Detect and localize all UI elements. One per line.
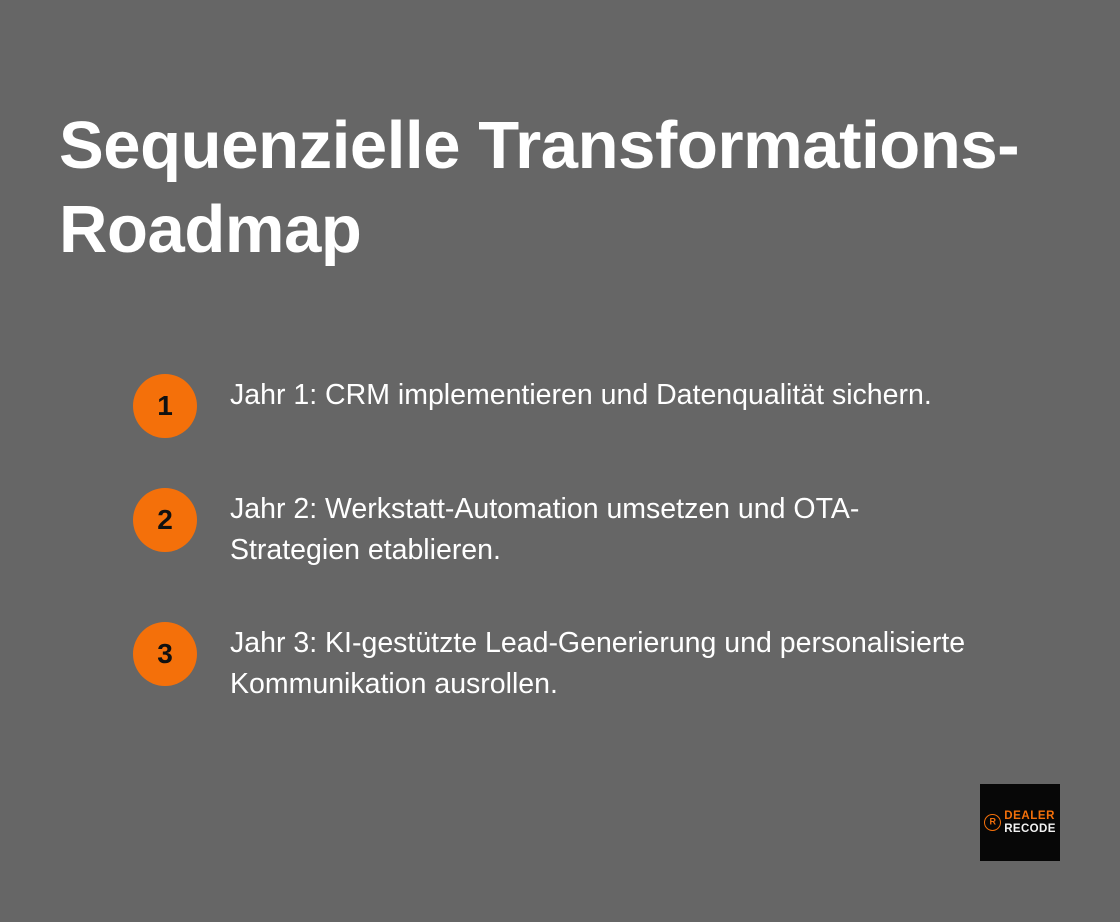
- brand-logo: R DEALER RECODE: [980, 784, 1060, 861]
- logo-wordmark: DEALER RECODE: [1004, 810, 1056, 834]
- step-number-badge-3: 3: [133, 622, 197, 686]
- roadmap-step-list: 1 Jahr 1: CRM implementieren und Datenqu…: [133, 374, 1033, 705]
- list-item: 2 Jahr 2: Werkstatt-Automation umsetzen …: [133, 488, 1033, 572]
- list-item: 3 Jahr 3: KI-gestützte Lead-Generierung …: [133, 622, 1033, 706]
- step-text-1: Jahr 1: CRM implementieren und Datenqual…: [230, 374, 970, 416]
- step-number-badge-1: 1: [133, 374, 197, 438]
- step-number-badge-2: 2: [133, 488, 197, 552]
- circled-r-icon: R: [984, 814, 1001, 831]
- logo-lockup: R DEALER RECODE: [984, 810, 1056, 834]
- logo-word-dealer: DEALER: [1004, 810, 1056, 822]
- step-text-3: Jahr 3: KI-gestützte Lead-Generierung un…: [230, 622, 970, 706]
- logo-mark-letter: R: [989, 818, 996, 827]
- list-item: 1 Jahr 1: CRM implementieren und Datenqu…: [133, 374, 1033, 438]
- step-text-2: Jahr 2: Werkstatt-Automation umsetzen un…: [230, 488, 970, 572]
- page-title: Sequenzielle Transformations-Roadmap: [59, 104, 1059, 273]
- slide-canvas: Sequenzielle Transformations-Roadmap 1 J…: [0, 0, 1120, 922]
- logo-word-recode: RECODE: [1004, 823, 1056, 835]
